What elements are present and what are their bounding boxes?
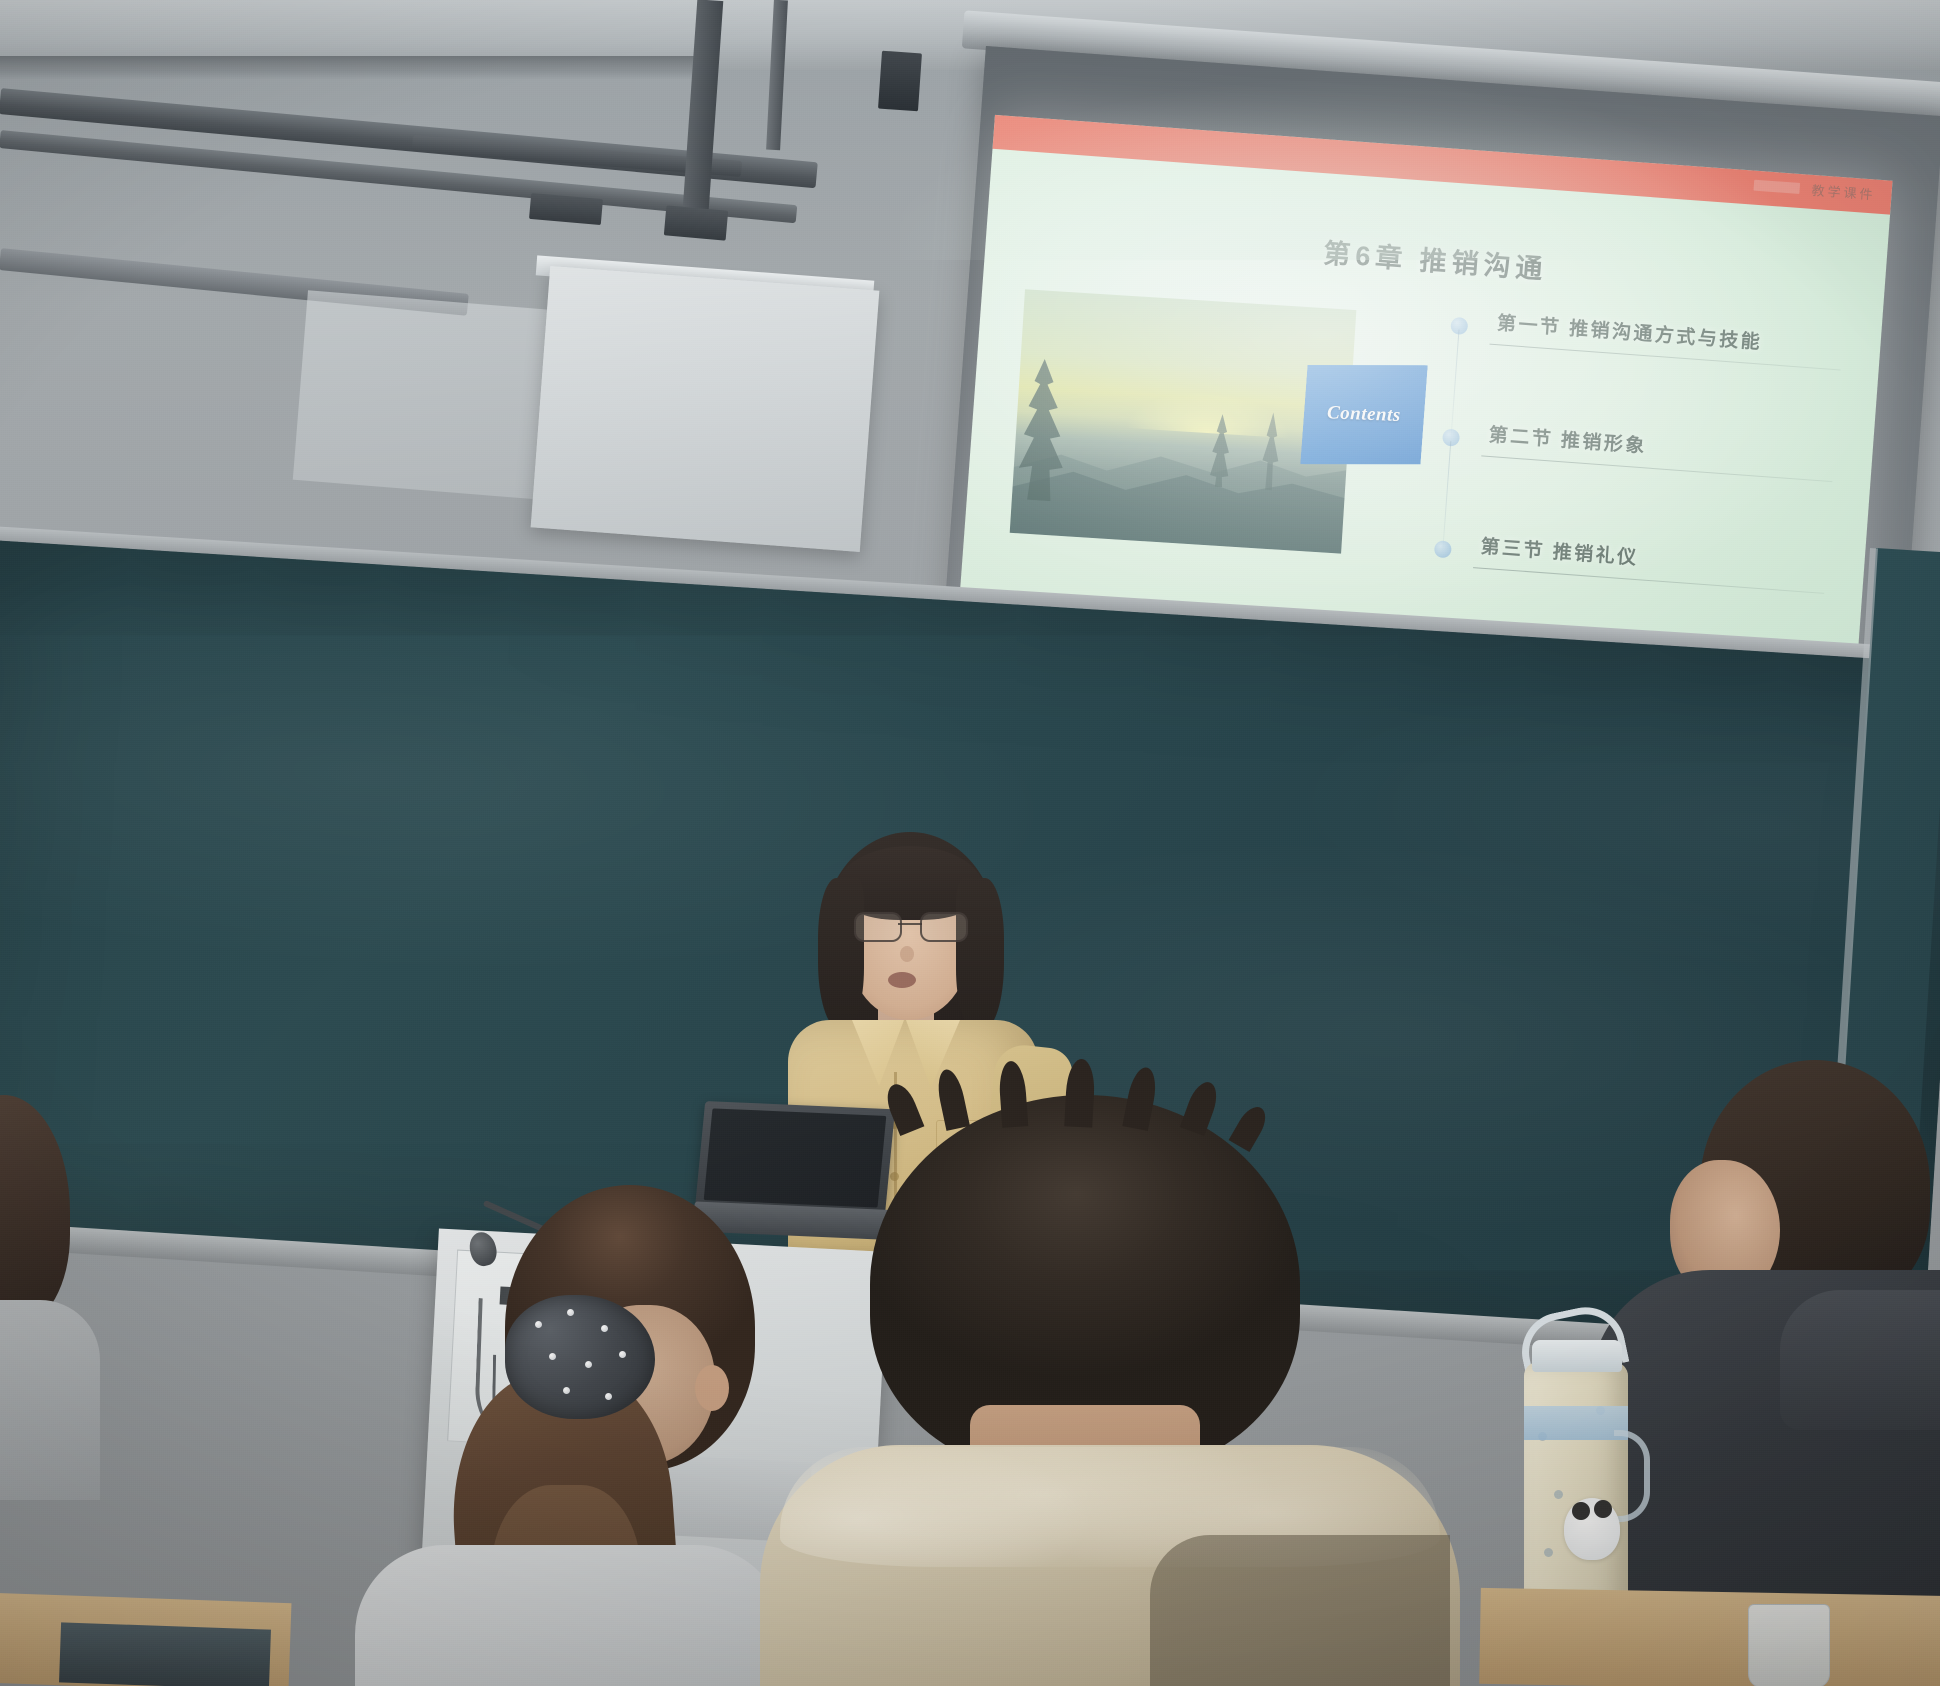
wall-panel-secondary <box>293 290 557 499</box>
menu-underline <box>1489 344 1840 371</box>
bullet-dot-icon <box>1434 540 1452 558</box>
bottle-sticker <box>1564 1498 1620 1560</box>
slide-menu-label-2: 第二节 推销形象 <box>1488 420 1648 459</box>
plastic-cup <box>1748 1604 1830 1686</box>
scrunchie-bead <box>601 1325 608 1332</box>
bottle-handle <box>1614 1430 1650 1522</box>
bottle-dot <box>1544 1548 1553 1557</box>
scrunchie-bead <box>535 1321 542 1328</box>
rail-clamp-2 <box>664 205 728 240</box>
desk-right <box>1479 1588 1940 1686</box>
student-ponytail-top <box>355 1545 785 1686</box>
student-ponytail-ear <box>695 1365 729 1411</box>
student-center <box>820 1095 1440 1686</box>
scrunchie-bead <box>605 1393 612 1400</box>
screen-mount-bracket <box>878 51 922 112</box>
logo-mark-icon <box>1753 180 1800 194</box>
menu-underline <box>1481 455 1832 482</box>
bottle-lid <box>1532 1340 1622 1372</box>
bottle-band <box>1524 1406 1628 1440</box>
scrunchie-bead <box>585 1361 592 1368</box>
presenter-hair-left <box>818 878 864 1028</box>
slide-menu-list: 第一节 推销沟通方式与技能 第二节 推销形象 第三节 推销礼仪 <box>1428 299 1852 663</box>
contents-tag-label: Contents <box>1327 402 1401 427</box>
presenter-hair-right <box>956 878 1004 1030</box>
water-bottle <box>1518 1310 1638 1610</box>
scrunchie-bead <box>567 1309 574 1316</box>
desk-left-front-panel <box>59 1622 271 1686</box>
hair-spike <box>1229 1102 1272 1152</box>
glasses-bridge <box>898 923 922 925</box>
student-center-shoulder-shadow <box>1150 1535 1450 1686</box>
scrunchie-bead <box>563 1387 570 1394</box>
presenter-nose <box>900 946 914 962</box>
scrunchie-bead <box>549 1353 556 1360</box>
student-left-edge-shoulder <box>0 1300 100 1500</box>
glasses-lens-left <box>854 912 902 942</box>
contents-tag: Contents <box>1300 356 1428 472</box>
scrunchie <box>505 1295 655 1419</box>
bottle-dot <box>1554 1490 1563 1499</box>
glasses-icon <box>852 912 968 938</box>
scrunchie-bead <box>619 1351 626 1358</box>
presenter-mouth <box>888 972 916 988</box>
menu-underline <box>1473 567 1824 594</box>
wall-mounted-unit <box>531 266 880 552</box>
classroom-photo: 教学课件 第6章 推销沟通 Contents <box>0 0 1940 1686</box>
slide-menu-label-3: 第三节 推销礼仪 <box>1480 532 1640 571</box>
ceiling-shadow <box>0 56 700 80</box>
bottle-body <box>1524 1362 1628 1610</box>
student-right <box>1630 1060 1940 1620</box>
glasses-lens-right <box>920 912 968 942</box>
student-right-hood <box>1780 1290 1940 1430</box>
